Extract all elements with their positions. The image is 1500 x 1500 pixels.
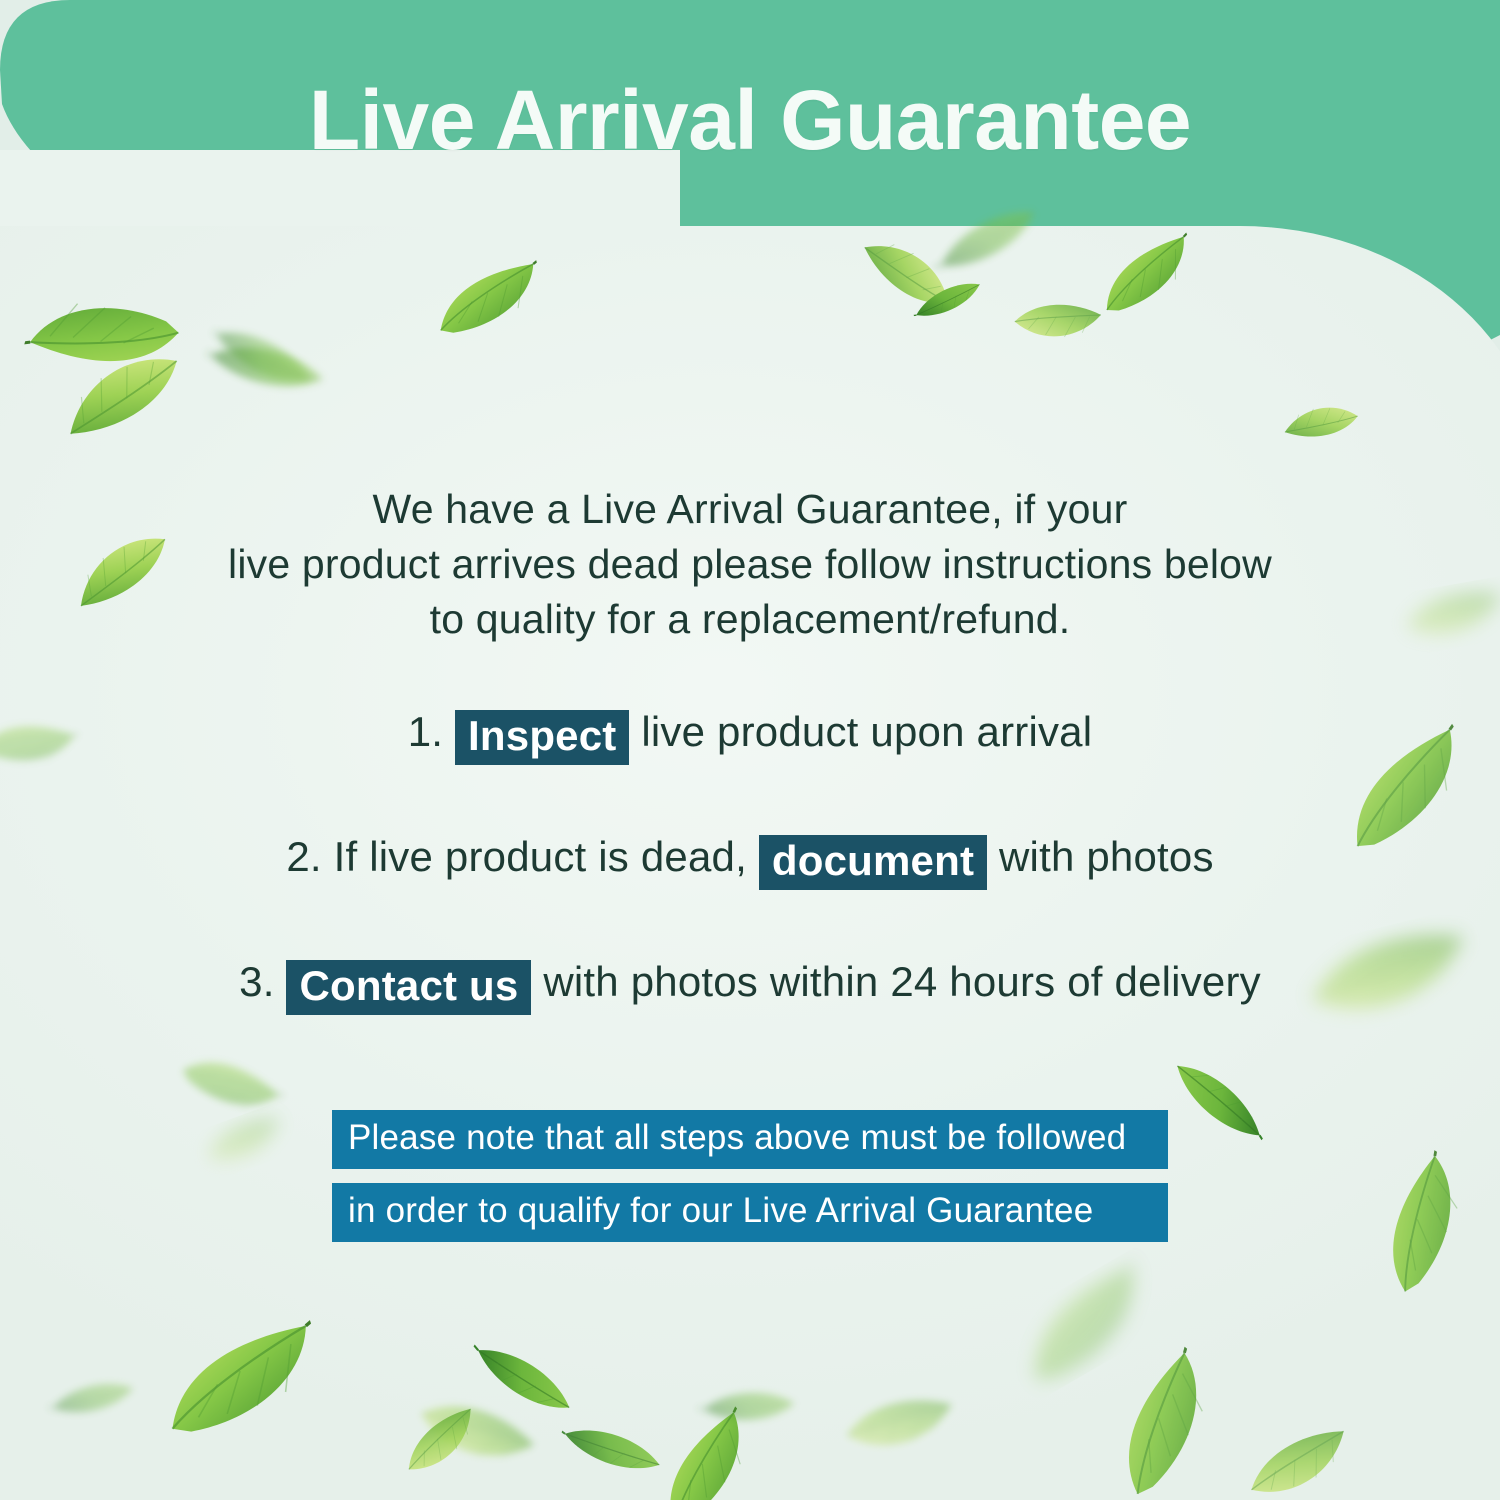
intro-line-1: We have a Live Arrival Guarantee, if you…: [0, 482, 1500, 537]
note-line-2: in order to qualify for our Live Arrival…: [332, 1183, 1168, 1242]
step-3-number: 3.: [239, 958, 274, 1005]
step-2-after: with photos: [999, 833, 1214, 880]
intro-line-2: live product arrives dead please follow …: [0, 537, 1500, 592]
step-1-number: 1.: [408, 708, 443, 755]
step-1-after: live product upon arrival: [641, 708, 1092, 755]
step-item-1: 1. Inspect live product upon arrival: [0, 706, 1500, 761]
page-title: Live Arrival Guarantee: [0, 72, 1500, 169]
poster: Live Arrival Guarantee: [0, 0, 1500, 1500]
step-item-3: 3. Contact us with photos within 24 hour…: [0, 956, 1500, 1011]
step-item-2: 2. If live product is dead, document wit…: [0, 831, 1500, 886]
step-3-highlight: Contact us: [286, 960, 531, 1015]
footer-notes: Please note that all steps above must be…: [0, 1110, 1500, 1242]
intro-line-3: to quality for a replacement/refund.: [0, 592, 1500, 647]
step-2-before: If live product is dead,: [334, 833, 747, 880]
step-2-highlight: document: [759, 835, 987, 890]
step-3-after: with photos within 24 hours of delivery: [543, 958, 1261, 1005]
content-area: We have a Live Arrival Guarantee, if you…: [0, 0, 1500, 1500]
note-divider: [0, 1169, 1500, 1183]
step-1-highlight: Inspect: [455, 710, 629, 765]
intro-paragraph: We have a Live Arrival Guarantee, if you…: [0, 482, 1500, 647]
note-line-1: Please note that all steps above must be…: [332, 1110, 1168, 1169]
steps-list: 1. Inspect live product upon arrival 2. …: [0, 706, 1500, 1011]
step-2-number: 2.: [286, 833, 321, 880]
